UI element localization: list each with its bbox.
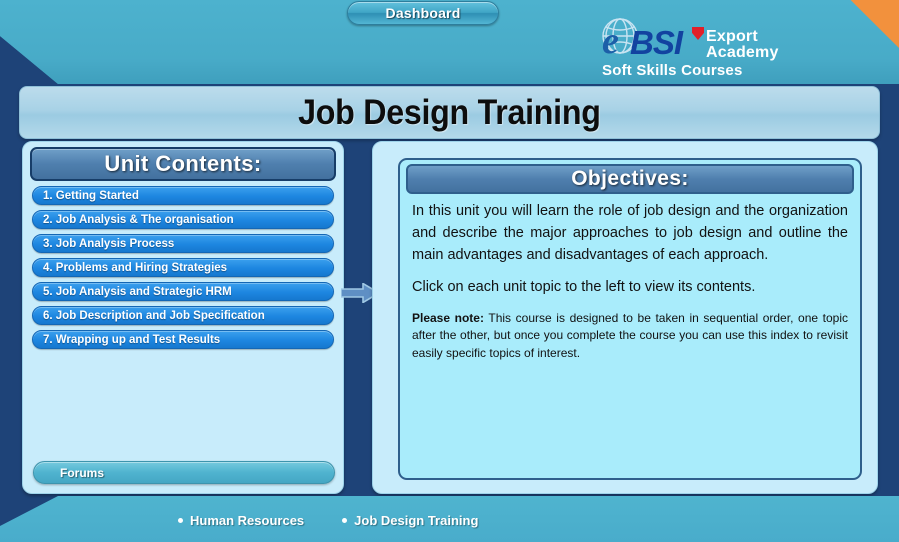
objectives-note: Please note: This course is designed to … [412,310,848,362]
unit-item-label: 7. Wrapping up and Test Results [43,334,220,346]
unit-list: 1. Getting Started 2. Job Analysis & The… [30,186,336,349]
logo-line-academy: Academy [706,45,779,62]
unit-item-label: 2. Job Analysis & The organisation [43,214,234,226]
unit-contents-header: Unit Contents: [30,147,336,181]
unit-item-label: 1. Getting Started [43,190,139,202]
breadcrumb-item-human-resources[interactable]: Human Resources [178,513,304,528]
logo-letters-bsi: BSI [630,26,682,59]
unit-item-7[interactable]: 7. Wrapping up and Test Results [32,330,334,349]
unit-item-2[interactable]: 2. Job Analysis & The organisation [32,210,334,229]
logo-tagline: Soft Skills Courses [602,62,743,79]
dashboard-button[interactable]: Dashboard [347,1,499,25]
app-stage: Dashboard e BSI Export Academy Soft Skil… [0,0,899,542]
unit-contents-panel: Unit Contents: 1. Getting Started 2. Job… [22,141,344,494]
flag-icon [692,27,704,40]
unit-item-label: 4. Problems and Hiring Strategies [43,262,227,274]
objectives-header: Objectives: [406,164,854,194]
bullet-icon [178,518,183,523]
objectives-paragraph-2: Click on each unit topic to the left to … [412,277,848,299]
objectives-body: In this unit you will learn the role of … [400,194,860,362]
objectives-paragraph-1: In this unit you will learn the role of … [412,201,848,266]
breadcrumb-item-job-design-training[interactable]: Job Design Training [342,513,478,528]
unit-item-6[interactable]: 6. Job Description and Job Specification [32,306,334,325]
unit-item-label: 6. Job Description and Job Specification [43,310,265,322]
ebsi-logo: e BSI Export Academy Soft Skills Courses [598,14,776,76]
unit-contents-header-label: Unit Contents: [104,151,261,177]
page-title-bar: Job Design Training [19,86,880,139]
unit-item-3[interactable]: 3. Job Analysis Process [32,234,334,253]
objectives-note-label: Please note: [412,311,484,325]
unit-item-1[interactable]: 1. Getting Started [32,186,334,205]
objectives-header-label: Objectives: [571,167,689,191]
forums-button[interactable]: Forums [33,461,335,484]
objectives-panel: Objectives: In this unit you will learn … [372,141,878,494]
breadcrumb: Human Resources Job Design Training [178,513,478,528]
objectives-box: Objectives: In this unit you will learn … [398,158,862,480]
breadcrumb-label: Job Design Training [354,513,478,528]
unit-item-5[interactable]: 5. Job Analysis and Strategic HRM [32,282,334,301]
page-title: Job Design Training [298,93,600,133]
unit-item-label: 5. Job Analysis and Strategic HRM [43,286,232,298]
dashboard-button-label: Dashboard [386,5,461,21]
unit-item-4[interactable]: 4. Problems and Hiring Strategies [32,258,334,277]
logo-letter-e: e [602,22,619,60]
bullet-icon [342,518,347,523]
breadcrumb-label: Human Resources [190,513,304,528]
forums-button-label: Forums [60,466,104,480]
unit-item-label: 3. Job Analysis Process [43,238,174,250]
